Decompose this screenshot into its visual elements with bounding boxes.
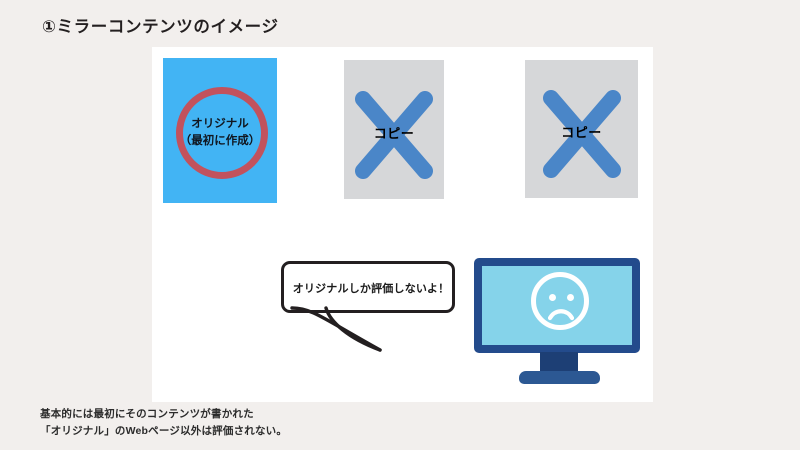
face-eye-right [567,294,574,301]
face-mouth-frown [548,307,574,321]
card-copy-1-label: コピー [344,123,444,142]
card-original-label-line1: オリジナル [163,116,277,133]
monitor-screen [482,266,632,345]
page-title: ①ミラーコンテンツのイメージ [42,13,279,37]
card-copy-1: コピー [344,60,444,199]
monitor-neck [540,352,578,373]
card-copy-2-label: コピー [525,122,638,141]
card-original: オリジナル （最初に作成） [163,58,277,203]
speech-bubble-text: オリジナルしか評価しないよ！ [284,280,458,296]
slide-canvas: ①ミラーコンテンツのイメージ オリジナル （最初に作成） コピー コピー オリジ… [0,0,800,450]
card-original-label: オリジナル （最初に作成） [163,116,277,150]
caption: 基本的には最初にそのコンテンツが書かれた 「オリジナル」のWebページ以外は評価… [40,406,287,440]
speech-bubble-tail-icon [290,305,390,355]
sad-face-icon [531,272,589,330]
caption-line2: 「オリジナル」のWebページ以外は評価されない。 [40,423,287,440]
monitor-frame [474,258,640,353]
caption-line1: 基本的には最初にそのコンテンツが書かれた [40,406,287,423]
card-copy-2: コピー [525,60,638,198]
face-eye-left [549,294,556,301]
monitor-base [519,371,600,384]
card-original-label-line2: （最初に作成） [163,133,277,150]
